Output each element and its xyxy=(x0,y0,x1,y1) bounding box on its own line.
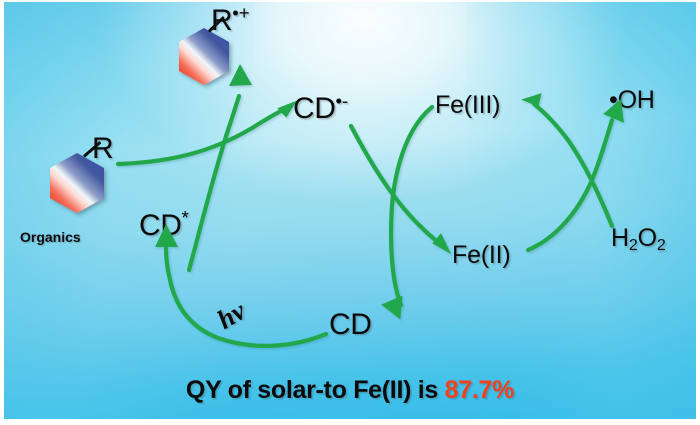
arrow-h2o2-to-fe3 xyxy=(534,104,612,226)
arrow-fe3-to-cd xyxy=(391,107,432,305)
caption-qy-value: 87.7% xyxy=(445,376,514,404)
arrow-cd-radical-to-fe2 xyxy=(351,126,443,246)
caption-prefix: QY of solar-to Fe(II) is xyxy=(186,376,445,404)
arrow-organics-to-cd-radical xyxy=(118,108,287,164)
arrow-cdstar-to-r-cation xyxy=(189,96,239,270)
arrowhead-cd-radical-to-fe2 xyxy=(431,232,456,255)
arrowhead-cdstar-to-r-cation xyxy=(229,64,252,86)
reaction-scheme-figure: R Organics R•+ CD• xyxy=(0,0,700,425)
arrowhead-fe2-to-hydroxyl xyxy=(602,96,628,122)
arrowhead-cd-to-cdstar-photon xyxy=(155,224,178,247)
arrowhead-fe3-to-cd xyxy=(381,294,412,324)
arrowhead-h2o2-to-fe3 xyxy=(521,93,543,107)
caption-quantum-yield: QY of solar-to Fe(II) is 87.7% xyxy=(0,376,700,405)
arrowhead-organics-to-cd-radical xyxy=(277,101,301,120)
arrow-layer xyxy=(0,0,700,425)
